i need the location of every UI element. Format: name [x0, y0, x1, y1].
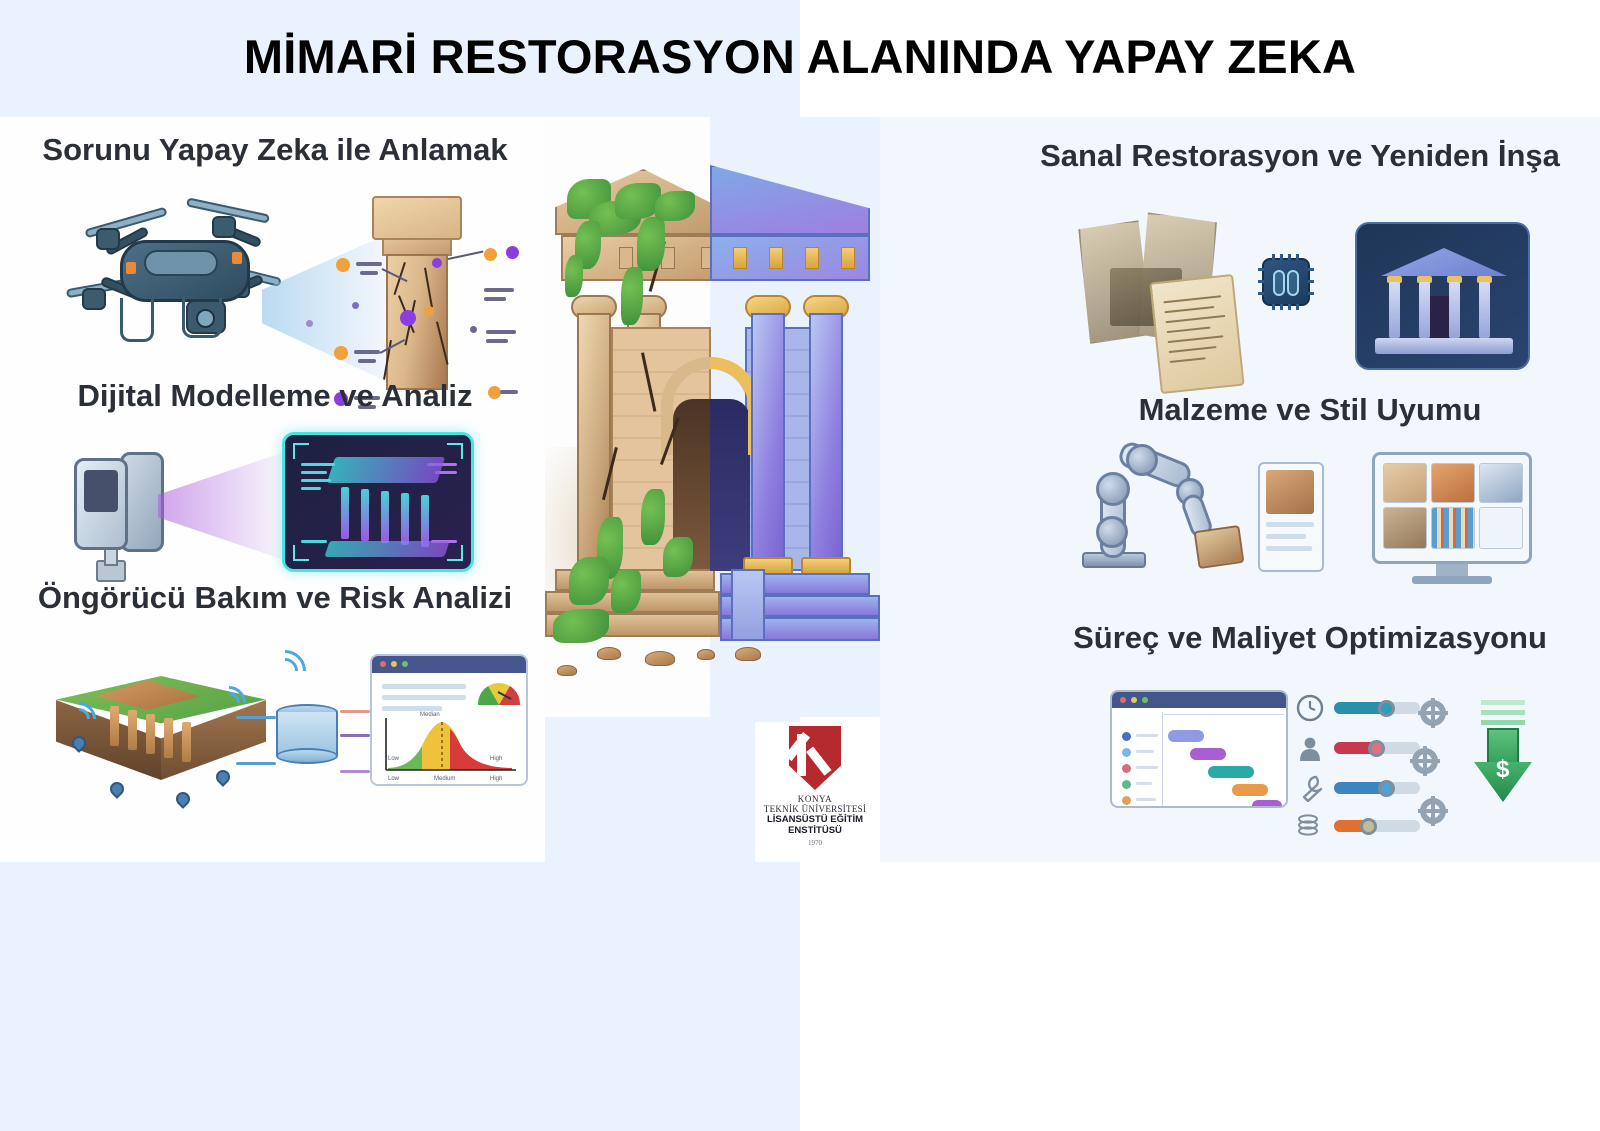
logo-line-institute-2: ENSTİTÜSÜ [788, 825, 842, 836]
ai-brain-chip-icon [1262, 258, 1310, 306]
poster-title: MİMARİ RESTORASYON ALANINDA YAPAY ZEKA [244, 29, 1356, 84]
poster-title-bar: MİMARİ RESTORASYON ALANINDA YAPAY ZEKA [0, 0, 1600, 112]
manuscript-scroll-icon [1149, 274, 1244, 394]
clock-icon [1296, 694, 1324, 722]
gear-icon [1420, 700, 1446, 726]
dollar-sign: $ [1496, 756, 1509, 784]
cost-down-arrow-icon: $ [1474, 700, 1532, 804]
material-sample-image [1266, 470, 1314, 514]
konya-teknik-universitesi-logo: KONYA TEKNİK ÜNİVERSİTESİ LİSANSÜSTÜ EĞİ… [755, 722, 875, 862]
section-heading-predictive-maintenance: Öngörücü Bakım ve Risk Analizi [30, 580, 520, 616]
risk-median-label: Median [420, 712, 440, 718]
restored-temple-card-icon [1355, 222, 1530, 370]
section-heading-understand-problem: Sorunu Yapay Zeka ile Anlamak [40, 132, 510, 168]
logo-line-institute-1: LİSANSÜSTÜ EĞİTİM [767, 814, 863, 825]
section-heading-virtual-restoration: Sanal Restorasyon ve Yeniden İnşa [1020, 138, 1580, 174]
logo-year: 1970 [808, 839, 822, 847]
seminar-poster: MİMARİ RESTORASYON ALANINDA YAPAY ZEKA S… [0, 0, 1600, 1131]
risk-dashboard-icon: Median Low High Low Medium High [370, 654, 528, 786]
logo-line-university: TEKNİK ÜNİVERSİTESİ [764, 804, 866, 814]
logo-line-konya: KONYA [798, 794, 833, 804]
risk-axis-high: High [490, 776, 502, 782]
gear-icon [1420, 798, 1446, 824]
shield-icon [789, 726, 841, 790]
risk-low-label: Low [388, 756, 399, 762]
section-heading-digital-modeling: Dijital Modelleme ve Analiz [40, 378, 510, 414]
gantt-chart-icon [1110, 690, 1288, 808]
section-heading-process-cost: Süreç ve Maliyet Optimizasyonu [1040, 620, 1580, 656]
risk-high-label: High [490, 756, 502, 762]
monitor-foot [1412, 576, 1492, 584]
poster-footer: 20 Ocak Salı Saat :14.30 YÜKSEK LİSANS S… [0, 862, 1600, 1131]
risk-axis-medium: Medium [434, 776, 455, 782]
risk-axis-low: Low [388, 776, 399, 782]
wrench-icon [1296, 774, 1324, 802]
section-heading-material-style: Malzeme ve Stil Uyumu [1050, 392, 1570, 428]
stone-brick-icon [1194, 525, 1245, 569]
hologram-temple-icon [282, 432, 474, 572]
split-temple-illustration [545, 117, 880, 717]
material-library-monitor-icon [1372, 452, 1532, 564]
right-panel-strip [880, 117, 1005, 862]
gear-icon [1412, 748, 1438, 774]
person-icon [1296, 734, 1324, 762]
coins-icon [1296, 812, 1324, 840]
risk-bell-curve [384, 716, 518, 772]
